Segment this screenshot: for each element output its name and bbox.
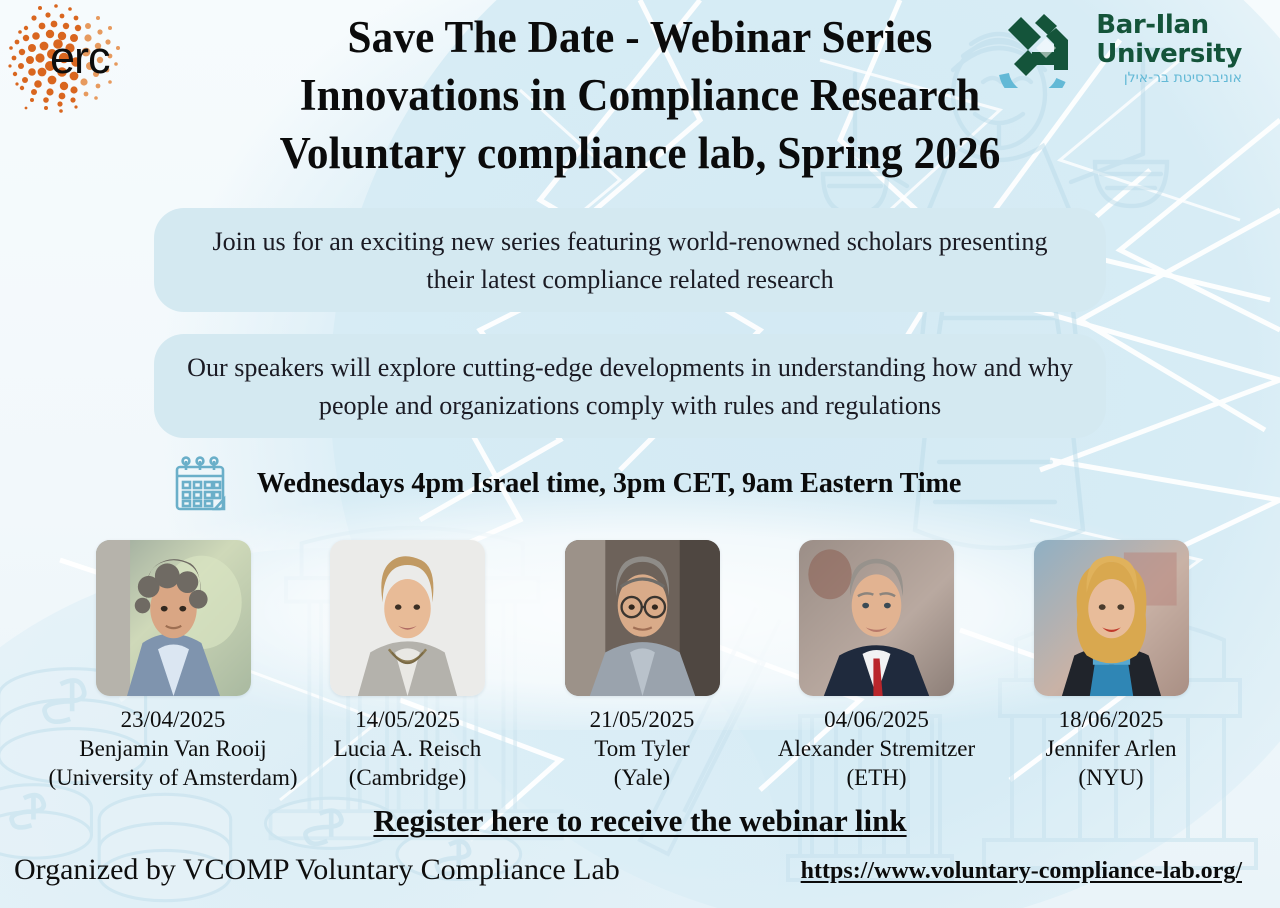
- speaker-date: 23/04/2025: [121, 707, 226, 732]
- speaker-date: 21/05/2025: [590, 707, 695, 732]
- speaker-name: Alexander Stremitzer: [748, 734, 1006, 763]
- speaker-photo-benjamin-van-rooij: [96, 540, 251, 696]
- schedule-row: Wednesdays 4pm Israel time, 3pm CET, 9am…: [172, 455, 972, 513]
- title-line-1: Save The Date - Webinar Series: [170, 8, 1111, 66]
- register-link[interactable]: Register here to receive the webinar lin…: [0, 803, 1280, 839]
- erc-wordmark: erc: [50, 35, 110, 80]
- speaker-date: 18/06/2025: [1059, 707, 1164, 732]
- speaker-affiliation: (ETH): [748, 763, 1006, 792]
- organizer-text: Organized by VCOMP Voluntary Compliance …: [14, 848, 620, 892]
- speaker-card: 14/05/2025 Lucia A. Reisch (Cambridge): [297, 540, 519, 792]
- speakers-row: 23/04/2025 Benjamin Van Rooij (Universit…: [62, 540, 1222, 792]
- title-line-2: Innovations in Compliance Research: [170, 66, 1111, 124]
- erc-logo: erc: [6, 2, 142, 114]
- speaker-name: Lucia A. Reisch: [297, 734, 519, 763]
- speaker-photo-jennifer-arlen: [1034, 540, 1189, 696]
- intro-box-1: Join us for an exciting new series featu…: [154, 208, 1106, 312]
- website-url-link[interactable]: https://www.voluntary-compliance-lab.org…: [801, 850, 1242, 892]
- speaker-caption: 18/06/2025 Jennifer Arlen (NYU): [990, 705, 1232, 792]
- speaker-card: 04/06/2025 Alexander Stremitzer (ETH): [766, 540, 988, 792]
- speaker-affiliation: (Cambridge): [297, 763, 519, 792]
- speaker-caption: 14/05/2025 Lucia A. Reisch (Cambridge): [297, 705, 519, 792]
- speaker-name: Tom Tyler: [531, 734, 753, 763]
- speaker-name: Benjamin Van Rooij: [38, 734, 308, 763]
- speaker-card: 23/04/2025 Benjamin Van Rooij (Universit…: [62, 540, 284, 792]
- intro-box-2: Our speakers will explore cutting-edge d…: [154, 334, 1106, 438]
- speaker-card: 18/06/2025 Jennifer Arlen (NYU): [1000, 540, 1222, 792]
- speaker-date: 14/05/2025: [355, 707, 460, 732]
- speaker-caption: 04/06/2025 Alexander Stremitzer (ETH): [748, 705, 1006, 792]
- speaker-photo-lucia-reisch: [330, 540, 485, 696]
- intro-text-2: Our speakers will explore cutting-edge d…: [187, 348, 1074, 424]
- speaker-affiliation: (University of Amsterdam): [38, 763, 308, 792]
- intro-text-1: Join us for an exciting new series featu…: [187, 222, 1074, 298]
- speaker-affiliation: (NYU): [990, 763, 1232, 792]
- speaker-name: Jennifer Arlen: [990, 734, 1232, 763]
- page-title: Save The Date - Webinar Series Innovatio…: [150, 8, 1130, 182]
- speaker-affiliation: (Yale): [531, 763, 753, 792]
- speaker-card: 21/05/2025 Tom Tyler (Yale): [531, 540, 753, 792]
- speaker-photo-tom-tyler: [565, 540, 720, 696]
- speaker-caption: 21/05/2025 Tom Tyler (Yale): [531, 705, 753, 792]
- speaker-date: 04/06/2025: [824, 707, 929, 732]
- calendar-icon: [172, 455, 228, 513]
- footer-row: Organized by VCOMP Voluntary Compliance …: [0, 848, 1280, 896]
- title-line-3: Voluntary compliance lab, Spring 2026: [170, 124, 1111, 182]
- speaker-caption: 23/04/2025 Benjamin Van Rooij (Universit…: [38, 705, 308, 792]
- poster-root: erc Bar-Ilan University אוניברסיטת בר-אי…: [0, 0, 1280, 908]
- schedule-text: Wednesdays 4pm Israel time, 3pm CET, 9am…: [257, 468, 961, 500]
- speaker-photo-alexander-stremitzer: [799, 540, 954, 696]
